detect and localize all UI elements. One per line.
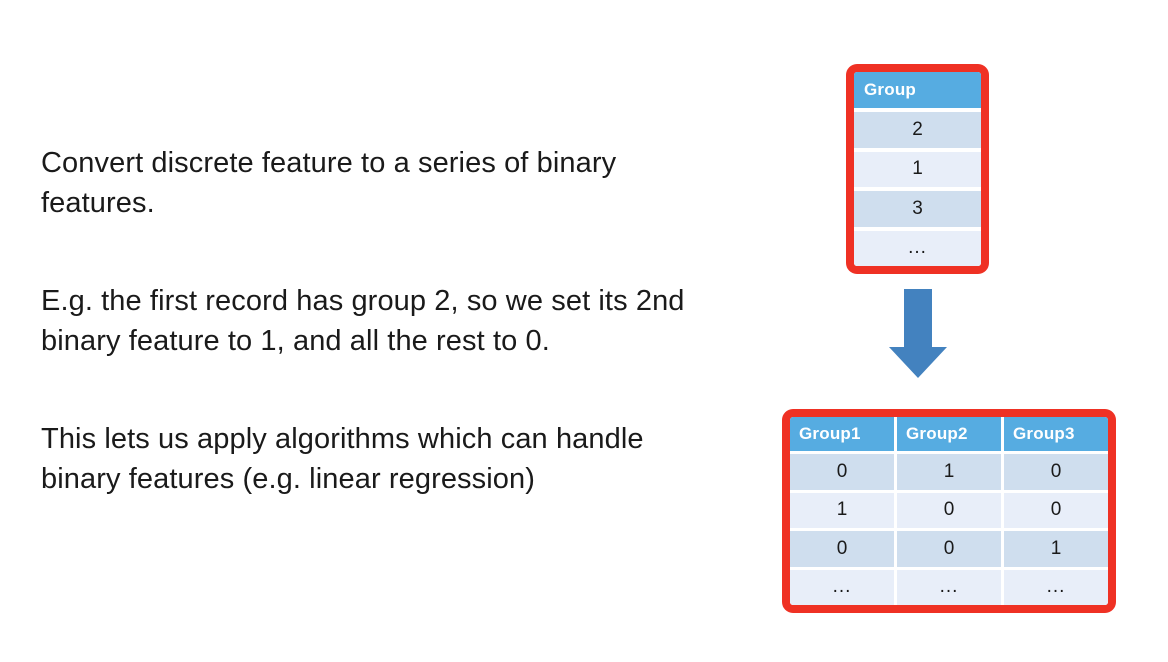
encoded-table-body: 0 1 0 1 0 0 0 0 1 ... ... ...	[790, 451, 1108, 605]
column-header-group3: Group3	[1004, 417, 1108, 451]
table-row: 3	[854, 191, 981, 227]
paragraph-1: Convert discrete feature to a series of …	[41, 143, 721, 223]
table-row: ... ... ...	[790, 570, 1108, 606]
cell-group1: ...	[790, 570, 894, 606]
column-header-group: Group	[854, 72, 981, 108]
table-row: 1 0 0	[790, 493, 1108, 529]
cell-group2: 0	[897, 493, 1001, 529]
cell-group3: 1	[1004, 531, 1108, 567]
encoded-table-inner: Group1 Group2 Group3 0 1 0 1 0 0 0 0 1 .…	[790, 417, 1108, 605]
cell-group3: 0	[1004, 493, 1108, 529]
table-row: 0 0 1	[790, 531, 1108, 567]
cell-group1: 1	[790, 493, 894, 529]
source-table-header-row: Group	[854, 72, 981, 108]
column-header-group1: Group1	[790, 417, 894, 451]
source-table: Group 2 1 3 ...	[846, 64, 989, 274]
source-table-body: 2 1 3 ...	[854, 108, 981, 266]
cell-group2: 0	[897, 531, 1001, 567]
cell-group3: 0	[1004, 454, 1108, 490]
table-row: 0 1 0	[790, 454, 1108, 490]
cell-group2: ...	[897, 570, 1001, 606]
table-row: ...	[854, 231, 981, 267]
paragraph-3: This lets us apply algorithms which can …	[41, 419, 721, 499]
paragraph-2: E.g. the first record has group 2, so we…	[41, 281, 721, 361]
cell-group: 3	[854, 191, 981, 227]
source-table-inner: Group 2 1 3 ...	[854, 72, 981, 266]
cell-group: 2	[854, 112, 981, 148]
explanation-text-block: Convert discrete feature to a series of …	[41, 143, 721, 499]
cell-group2: 1	[897, 454, 1001, 490]
cell-group1: 0	[790, 454, 894, 490]
cell-group: ...	[854, 231, 981, 267]
arrow-down-icon	[888, 289, 948, 379]
column-header-group2: Group2	[897, 417, 1001, 451]
encoded-table: Group1 Group2 Group3 0 1 0 1 0 0 0 0 1 .…	[782, 409, 1116, 613]
encoded-table-header-row: Group1 Group2 Group3	[790, 417, 1108, 451]
cell-group: 1	[854, 152, 981, 188]
table-row: 1	[854, 152, 981, 188]
cell-group3: ...	[1004, 570, 1108, 606]
table-row: 2	[854, 112, 981, 148]
cell-group1: 0	[790, 531, 894, 567]
